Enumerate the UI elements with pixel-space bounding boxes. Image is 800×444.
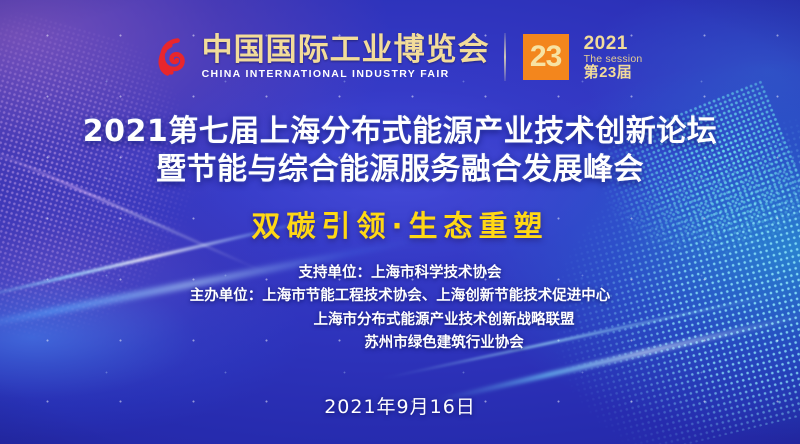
support-unit-line: 支持单位：上海市科学技术协会	[0, 262, 800, 285]
poster-title: 2021第七届上海分布式能源产业技术创新论坛 暨节能与综合能源服务融合发展峰会	[0, 113, 800, 190]
ciif-swirl-mark-icon	[158, 38, 192, 78]
host-unit-line-3: 苏州市绿色建筑行业协会	[0, 332, 800, 355]
edition-session-chinese: 第23届	[584, 65, 643, 81]
poster-content: 中国国际工业博览会 CHINA INTERNATIONAL INDUSTRY F…	[0, 0, 800, 444]
ciif-name-english: CHINA INTERNATIONAL INDUSTRY FAIR	[202, 69, 490, 80]
edition-session-english: The session	[584, 54, 643, 65]
ciif-logo-lockup: 中国国际工业博览会 CHINA INTERNATIONAL INDUSTRY F…	[0, 33, 800, 81]
event-poster: 中国国际工业博览会 CHINA INTERNATIONAL INDUSTRY F…	[0, 0, 800, 444]
host-unit-line-1: 主办单位：上海市节能工程技术协会、上海创新节能技术促进中心	[0, 285, 800, 308]
logo-divider	[504, 33, 506, 81]
edition-meta: 2021 The session 第23届	[584, 34, 643, 81]
edition-number-box: 23	[523, 34, 569, 80]
title-line-2: 暨节能与综合能源服务融合发展峰会	[0, 151, 800, 189]
organizer-block: 支持单位：上海市科学技术协会 主办单位：上海市节能工程技术协会、上海创新节能技术…	[0, 262, 800, 356]
event-date: 2021年9月16日	[0, 392, 800, 419]
poster-slogan: 双碳引领·生态重塑	[0, 203, 800, 245]
title-line-1: 2021第七届上海分布式能源产业技术创新论坛	[0, 113, 800, 151]
edition-number: 23	[530, 42, 561, 72]
ciif-name-chinese: 中国国际工业博览会	[202, 35, 490, 66]
ciif-logo-wordmark: 中国国际工业博览会 CHINA INTERNATIONAL INDUSTRY F…	[202, 35, 490, 80]
host-unit-line-2: 上海市分布式能源产业技术创新战略联盟	[0, 309, 800, 332]
edition-year: 2021	[584, 34, 643, 54]
